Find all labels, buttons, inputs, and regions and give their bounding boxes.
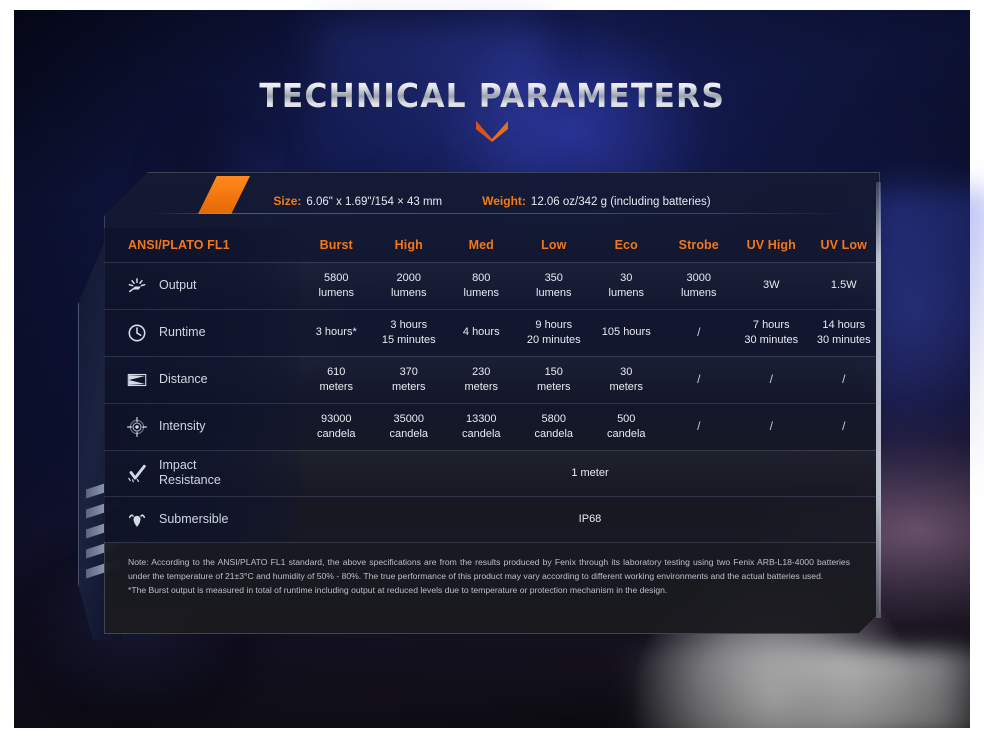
table-cell: 4 hours (445, 309, 518, 356)
table-cell: 800lumens (445, 262, 518, 309)
row-label-cell: ImpactResistance (104, 450, 300, 496)
table-cell: 35000candela (373, 403, 446, 450)
background-light-streak-right (874, 190, 984, 490)
cell-not-applicable: / (770, 372, 773, 386)
row-label: Distance (159, 372, 208, 387)
weight-value: 12.06 oz/342 g (including batteries) (531, 196, 711, 208)
cell-value: 1 meter (571, 467, 608, 479)
cell-not-applicable: / (697, 325, 700, 339)
cell-not-applicable: / (697, 372, 700, 386)
size-label: Size: (273, 194, 301, 208)
cell-unit: candela (300, 427, 373, 441)
table-cell: 3 hours* (300, 309, 373, 356)
cell-value: 2000 (373, 271, 446, 285)
column-header-uv-low: UV Low (808, 228, 881, 262)
cell-value: 3000 (663, 271, 736, 285)
footnote-line-2: *The Burst output is measured in total o… (128, 584, 850, 598)
row-label: Runtime (159, 325, 206, 340)
cell-value: 35000 (373, 412, 446, 426)
table-row: Intensity93000candela35000candela13300ca… (104, 403, 880, 450)
table-cell: / (808, 403, 881, 450)
cell-unit: candela (373, 427, 446, 441)
table-cell: 5800candela (518, 403, 591, 450)
cell-unit: 30 minutes (735, 333, 808, 347)
cell-unit: meters (590, 380, 663, 394)
cell-value: 370 (373, 365, 446, 379)
page-title-wrapper: TECHNICAL PARAMETERS (0, 76, 984, 115)
cell-unit: 15 minutes (373, 333, 446, 347)
cell-value: 230 (445, 365, 518, 379)
table-row: Output5800lumens2000lumens800lumens350lu… (104, 262, 880, 309)
background-flashlight-beam (614, 650, 984, 738)
cell-not-applicable: / (842, 372, 845, 386)
column-header-eco: Eco (590, 228, 663, 262)
row-label-cell: Submersible (104, 496, 300, 542)
column-header-strobe: Strobe (663, 228, 736, 262)
beam-distance-icon (126, 369, 148, 391)
row-label: Intensity (159, 419, 206, 434)
cell-value: 500 (590, 412, 663, 426)
table-cell: 230meters (445, 356, 518, 403)
merged-value-cell: 1 meter (300, 450, 880, 496)
specifications-table: ANSI/PLATO FL1 Burst High Med Low Eco St… (104, 228, 880, 543)
table-cell: 105 hours (590, 309, 663, 356)
cell-value: 3W (735, 278, 808, 292)
table-cell: / (735, 356, 808, 403)
cell-unit: candela (518, 427, 591, 441)
cell-value: 7 hours (735, 318, 808, 332)
table-cell: / (663, 356, 736, 403)
table-cell: 9 hours20 minutes (518, 309, 591, 356)
table-cell: / (735, 403, 808, 450)
table-row: Runtime3 hours*3 hours15 minutes4 hours9… (104, 309, 880, 356)
merged-value-cell: IP68 (300, 496, 880, 542)
cell-unit: 30 minutes (808, 333, 881, 347)
size-spec: Size: 6.06" x 1.69"/154 × 43 mm (273, 194, 442, 208)
crosshair-target-icon (126, 416, 148, 438)
cell-unit: meters (445, 380, 518, 394)
column-header-ansi: ANSI/PLATO FL1 (104, 228, 300, 262)
cell-value: 1.5W (808, 278, 881, 292)
cell-value: 30 (590, 271, 663, 285)
row-label-cell: Output (104, 262, 300, 309)
table-cell: / (808, 356, 881, 403)
table-cell: 2000lumens (373, 262, 446, 309)
cell-unit: lumens (663, 286, 736, 300)
cell-value: 3 hours (373, 318, 446, 332)
chevron-down-icon (0, 120, 984, 147)
table-cell: 30meters (590, 356, 663, 403)
screenshot-root: TECHNICAL PARAMETERS Size: 6.06" x 1.69"… (0, 0, 984, 738)
row-label: Output (159, 278, 197, 293)
cell-value: 350 (518, 271, 591, 285)
cell-value: 93000 (300, 412, 373, 426)
row-label-cell: Distance (104, 356, 300, 403)
table-cell: 150meters (518, 356, 591, 403)
cell-value: 105 hours (590, 325, 663, 339)
table-cell: 3000lumens (663, 262, 736, 309)
weight-label: Weight: (482, 194, 526, 208)
table-cell: 7 hours30 minutes (735, 309, 808, 356)
table-header-row: ANSI/PLATO FL1 Burst High Med Low Eco St… (104, 228, 880, 262)
footnote: Note: According to the ANSI/PLATO FL1 st… (128, 556, 850, 598)
table-row: ImpactResistance1 meter (104, 450, 880, 496)
table-cell: 30lumens (590, 262, 663, 309)
footnote-line-1: Note: According to the ANSI/PLATO FL1 st… (128, 556, 850, 584)
column-header-burst: Burst (300, 228, 373, 262)
cell-value: 800 (445, 271, 518, 285)
row-label: ImpactResistance (159, 458, 221, 488)
cell-unit: lumens (445, 286, 518, 300)
cell-unit: lumens (590, 286, 663, 300)
cell-unit: candela (590, 427, 663, 441)
table-cell: 610meters (300, 356, 373, 403)
cell-unit: lumens (373, 286, 446, 300)
row-label: Submersible (159, 512, 228, 527)
column-header-high: High (373, 228, 446, 262)
table-cell: 3W (735, 262, 808, 309)
table-cell: 1.5W (808, 262, 881, 309)
light-burst-icon (126, 275, 148, 297)
table-row: SubmersibleIP68 (104, 496, 880, 542)
weight-spec: Weight: 12.06 oz/342 g (including batter… (482, 194, 710, 208)
cell-unit: 20 minutes (518, 333, 591, 347)
table-cell: 93000candela (300, 403, 373, 450)
cell-value: 9 hours (518, 318, 591, 332)
table-body: Output5800lumens2000lumens800lumens350lu… (104, 262, 880, 542)
cell-unit: meters (518, 380, 591, 394)
table-cell: 13300candela (445, 403, 518, 450)
cell-value: 150 (518, 365, 591, 379)
row-label-cell: Runtime (104, 309, 300, 356)
table-cell: 5800lumens (300, 262, 373, 309)
size-weight-strip: Size: 6.06" x 1.69"/154 × 43 mm Weight: … (104, 186, 880, 216)
cell-unit: lumens (518, 286, 591, 300)
row-label-cell: Intensity (104, 403, 300, 450)
cell-unit: lumens (300, 286, 373, 300)
cell-unit: candela (445, 427, 518, 441)
drop-impact-icon (126, 462, 148, 484)
table-cell: 3 hours15 minutes (373, 309, 446, 356)
cell-not-applicable: / (697, 419, 700, 433)
table-cell: 350lumens (518, 262, 591, 309)
clock-icon (126, 322, 148, 344)
table-row: Distance610meters370meters230meters150me… (104, 356, 880, 403)
table-cell: 370meters (373, 356, 446, 403)
column-header-med: Med (445, 228, 518, 262)
size-value: 6.06" x 1.69"/154 × 43 mm (306, 196, 442, 208)
table-cell: 14 hours30 minutes (808, 309, 881, 356)
cell-value: IP68 (579, 513, 602, 525)
cell-not-applicable: / (842, 419, 845, 433)
cell-unit: meters (373, 380, 446, 394)
cell-value: 5800 (518, 412, 591, 426)
column-header-low: Low (518, 228, 591, 262)
chevron-down-glyph (475, 120, 509, 142)
cell-unit: meters (300, 380, 373, 394)
cell-not-applicable: / (770, 419, 773, 433)
cell-value: 13300 (445, 412, 518, 426)
page-title: TECHNICAL PARAMETERS (259, 76, 725, 115)
cell-value: 14 hours (808, 318, 881, 332)
water-droplet-icon (126, 508, 148, 530)
cell-value: 5800 (300, 271, 373, 285)
cell-value: 30 (590, 365, 663, 379)
table-header: ANSI/PLATO FL1 Burst High Med Low Eco St… (104, 228, 880, 262)
cell-value: 4 hours (445, 325, 518, 339)
table-cell: / (663, 403, 736, 450)
column-header-uv-high: UV High (735, 228, 808, 262)
cell-value: 610 (300, 365, 373, 379)
cell-value: 3 hours* (300, 325, 373, 339)
table-cell: 500candela (590, 403, 663, 450)
table-cell: / (663, 309, 736, 356)
